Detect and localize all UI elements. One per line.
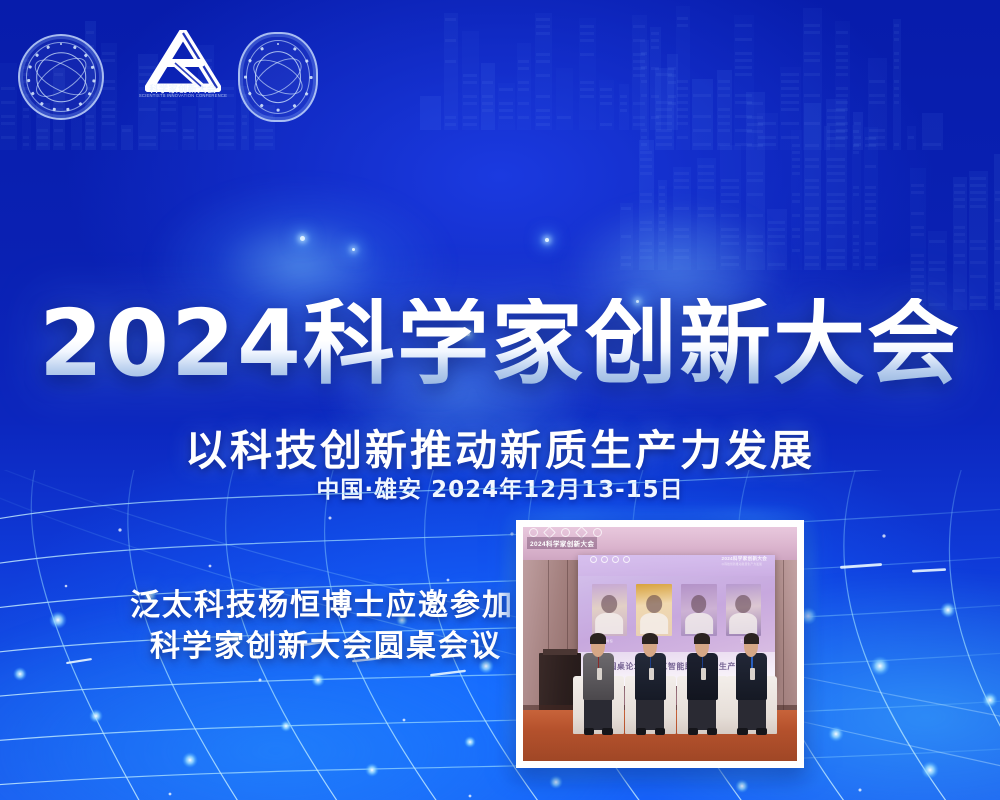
portrait-head	[602, 595, 618, 613]
organizer-logo-row: 中国科学技术协会 徽章 科学家创新大会 SCIENTISTS INNOVATIO…	[14, 28, 314, 124]
panelist-shoe	[636, 728, 647, 735]
panelist	[731, 635, 772, 729]
hall-banner-text: 2024科学家创新大会	[527, 537, 597, 549]
poster-title: 2024科学家创新大会	[0, 298, 1000, 390]
panelist-shoe	[602, 728, 613, 735]
atom-icon	[36, 52, 86, 102]
screen-icon-1	[590, 556, 597, 563]
portrait-body	[640, 613, 668, 634]
panelist-hair	[642, 633, 658, 644]
panelist	[682, 635, 723, 729]
caption-line-2: 科学家创新大会圆桌会议	[130, 626, 530, 667]
globe-icon	[255, 51, 301, 103]
banner-icon-3	[561, 528, 570, 537]
screen-icon-4	[623, 556, 630, 563]
portrait-head	[691, 595, 707, 613]
logo-conference-subcaption: SCIENTISTS INNOVATION CONFERENCE	[139, 93, 227, 98]
panelist-legs	[688, 696, 716, 730]
panelist-hair	[694, 633, 710, 644]
skyline-texture-mid-right	[620, 90, 880, 270]
speaker-portrait	[592, 584, 628, 636]
portrait-head	[646, 595, 662, 613]
panelist-badge	[701, 668, 706, 679]
speaker-portrait	[681, 584, 717, 636]
banner-icon-5	[593, 528, 602, 537]
speaker-portrait	[636, 584, 672, 636]
portrait-body	[730, 613, 758, 634]
speaker-portrait	[726, 584, 762, 636]
spark-c	[545, 238, 549, 242]
panelist-badge	[750, 668, 755, 679]
panelist-shoe	[655, 728, 666, 735]
panelist-badge	[597, 668, 602, 679]
screen-brand-sub: 以科技创新推动新质生产力发展	[721, 562, 767, 566]
screen-header-icons	[590, 556, 630, 563]
panelist-hair	[744, 633, 760, 644]
poster-subtitle: 以科技创新推动新质生产力发展	[0, 417, 1000, 478]
panelist-hair	[590, 633, 606, 644]
logo-china-association-seal: 中国科学技术协会 徽章	[18, 34, 104, 120]
panelist	[578, 635, 619, 729]
panelist-shoe	[737, 728, 748, 735]
panelist-legs	[636, 696, 664, 730]
conference-poster: 中国科学技术协会 徽章 科学家创新大会 SCIENTISTS INNOVATIO…	[0, 0, 1000, 800]
panelist-shoe	[688, 728, 699, 735]
panelist-shoe	[707, 728, 718, 735]
skyline-texture-top-right	[640, 0, 940, 150]
banner-icon-1	[529, 528, 538, 537]
logo-conference-triangle: 科学家创新大会 SCIENTISTS INNOVATION CONFERENCE	[138, 30, 228, 110]
panelist-badge	[649, 668, 654, 679]
screen-header: 2024科学家创新大会以科技创新推动新质生产力发展	[578, 555, 775, 576]
roundtable-panel-photo[interactable]: 2024科学家创新大会 2024科学家创新大会以科技创新推动新质生产力发展	[516, 520, 804, 768]
caption-line-1: 泛太科技杨恒博士应邀参加	[130, 588, 514, 623]
panelist	[630, 635, 671, 729]
screen-session-title: 圆桌论坛：人工智能助力新质生产力	[608, 661, 744, 672]
portrait-body	[596, 613, 624, 634]
event-caption: 泛太科技杨恒博士应邀参加 科学家创新大会圆桌会议	[130, 585, 530, 668]
portrait-head	[736, 595, 752, 613]
panelist-shoe	[756, 728, 767, 735]
screen-brand: 2024科学家创新大会以科技创新推动新质生产力发展	[721, 556, 767, 566]
panelist-legs	[738, 696, 766, 730]
spark-a	[300, 236, 305, 241]
screen-icon-2	[601, 556, 608, 563]
skyline-texture-top-center	[420, 0, 680, 130]
screen-icon-3	[612, 556, 619, 563]
hall-banner-icons	[529, 528, 602, 537]
logo-xiongan-institute-seal: 雄安 研究院 徽章	[238, 32, 318, 122]
panelist-shoe	[584, 728, 595, 735]
portrait-body	[685, 613, 713, 634]
panelist-legs	[584, 696, 612, 730]
skyline-texture-right-low	[910, 150, 1000, 310]
spark-b	[352, 248, 355, 251]
